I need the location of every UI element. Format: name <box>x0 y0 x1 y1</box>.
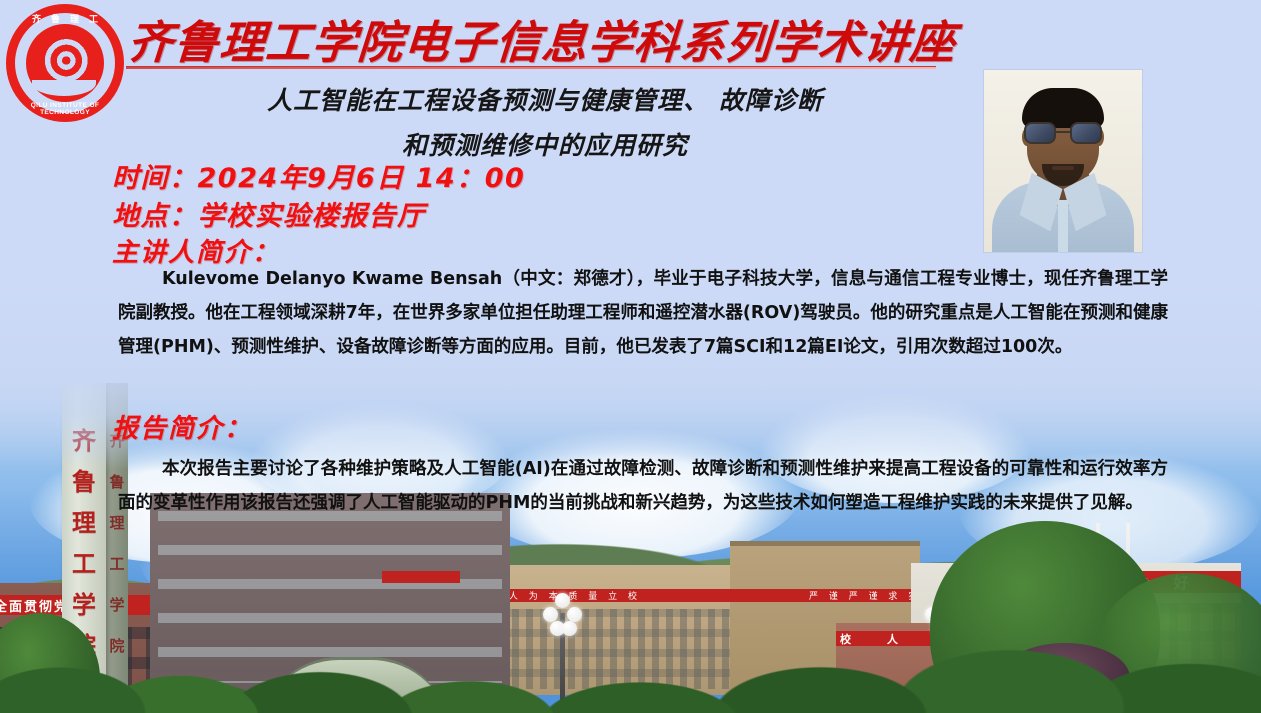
university-logo-icon: 齐鲁理工 QILU INSTITUTE OF TECHNOLOGY <box>6 4 124 122</box>
logo-chinese-name: 齐鲁理工 <box>6 12 124 25</box>
lecture-subtitle: 人工智能在工程设备预测与健康管理、 故障诊断 和预测维修中的应用研究 <box>150 78 940 168</box>
abstract-section-heading: 报告简介： <box>112 408 252 445</box>
abstract-text: 本次报告主要讨论了各种维护策略及人工智能(AI)在通过故障检测、故障诊断和预测性… <box>118 452 1168 520</box>
lecture-location: 地点：学校实验楼报告厅 <box>112 198 932 236</box>
lecture-poster: 以 人 为 本 质 量 立 校 严 谨 严 谨 求 实 创 新 全面贯彻党的 齐… <box>0 0 1261 713</box>
title-divider <box>126 66 936 69</box>
subtitle-line-1: 人工智能在工程设备预测与健康管理、 故障诊断 <box>150 78 940 123</box>
speaker-portrait-photo <box>984 70 1142 252</box>
eyeglasses-icon <box>1022 122 1104 144</box>
poster-content: 齐鲁理工 QILU INSTITUTE OF TECHNOLOGY 齐鲁理工学院… <box>0 0 1261 713</box>
page-title: 齐鲁理工学院电子信息学科系列学术讲座 <box>126 6 946 71</box>
speaker-bio: Kulevome Delanyo Kwame Bensah（中文：郑德才），毕业… <box>118 262 1168 364</box>
lecture-meta: 时间：2024年9月6日 14：00 地点：学校实验楼报告厅 <box>112 160 932 236</box>
lecture-time: 时间：2024年9月6日 14：00 <box>112 160 932 198</box>
